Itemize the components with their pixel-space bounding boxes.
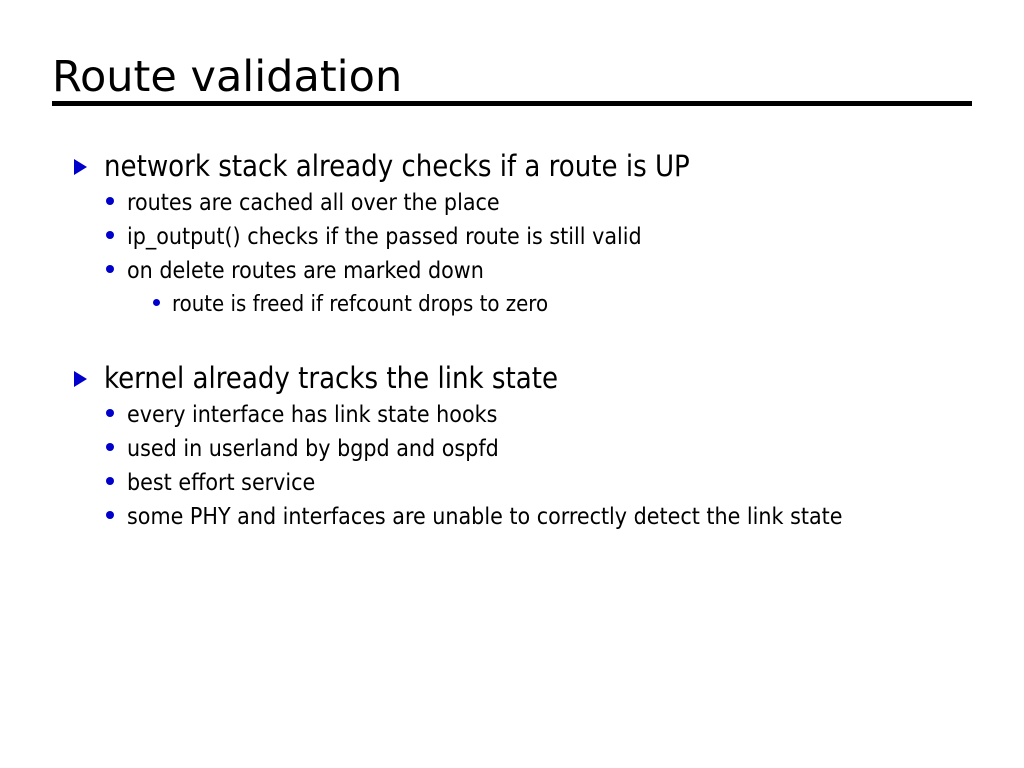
bullet-level2-label: routes are cached all over the place [127, 186, 500, 220]
group-spacer [0, 322, 1024, 360]
triangle-bullet-icon [74, 360, 104, 387]
bullet-level2-label: every interface has link state hooks [127, 398, 497, 432]
bullet-level2: on delete routes are marked down [0, 254, 1024, 288]
bullet-level1-label: network stack already checks if a route … [104, 148, 690, 184]
title-block: Route validation [52, 52, 972, 102]
dot-bullet-icon [153, 288, 172, 306]
dot-bullet-icon [106, 254, 127, 273]
triangle-bullet-icon [74, 148, 104, 175]
bullet-level2-label: ip_output() checks if the passed route i… [127, 220, 642, 254]
dot-bullet-icon [106, 432, 127, 451]
bullet-level1: network stack already checks if a route … [0, 148, 1024, 184]
bullet-level2-label: used in userland by bgpd and ospfd [127, 432, 499, 466]
page-title: Route validation [52, 52, 972, 102]
slide: Route validation network stack already c… [0, 0, 1024, 768]
bullet-level3-label: route is freed if refcount drops to zero [172, 288, 548, 322]
bullet-level2: routes are cached all over the place [0, 186, 1024, 220]
dot-bullet-icon [106, 466, 127, 485]
title-divider [52, 101, 972, 106]
bullet-level2: some PHY and interfaces are unable to co… [0, 500, 1024, 534]
bullet-level2: every interface has link state hooks [0, 398, 1024, 432]
bullet-level1-label: kernel already tracks the link state [104, 360, 558, 396]
bullet-level3: route is freed if refcount drops to zero [0, 288, 1024, 322]
dot-bullet-icon [106, 220, 127, 239]
bullet-level2-label: some PHY and interfaces are unable to co… [127, 500, 843, 534]
slide-body: network stack already checks if a route … [0, 148, 1024, 534]
dot-bullet-icon [106, 398, 127, 417]
dot-bullet-icon [106, 500, 127, 519]
dot-bullet-icon [106, 186, 127, 205]
bullet-level2: ip_output() checks if the passed route i… [0, 220, 1024, 254]
bullet-level2-label: best effort service [127, 466, 315, 500]
bullet-level1: kernel already tracks the link state [0, 360, 1024, 396]
bullet-level2: best effort service [0, 466, 1024, 500]
bullet-level2: used in userland by bgpd and ospfd [0, 432, 1024, 466]
bullet-level2-label: on delete routes are marked down [127, 254, 484, 288]
